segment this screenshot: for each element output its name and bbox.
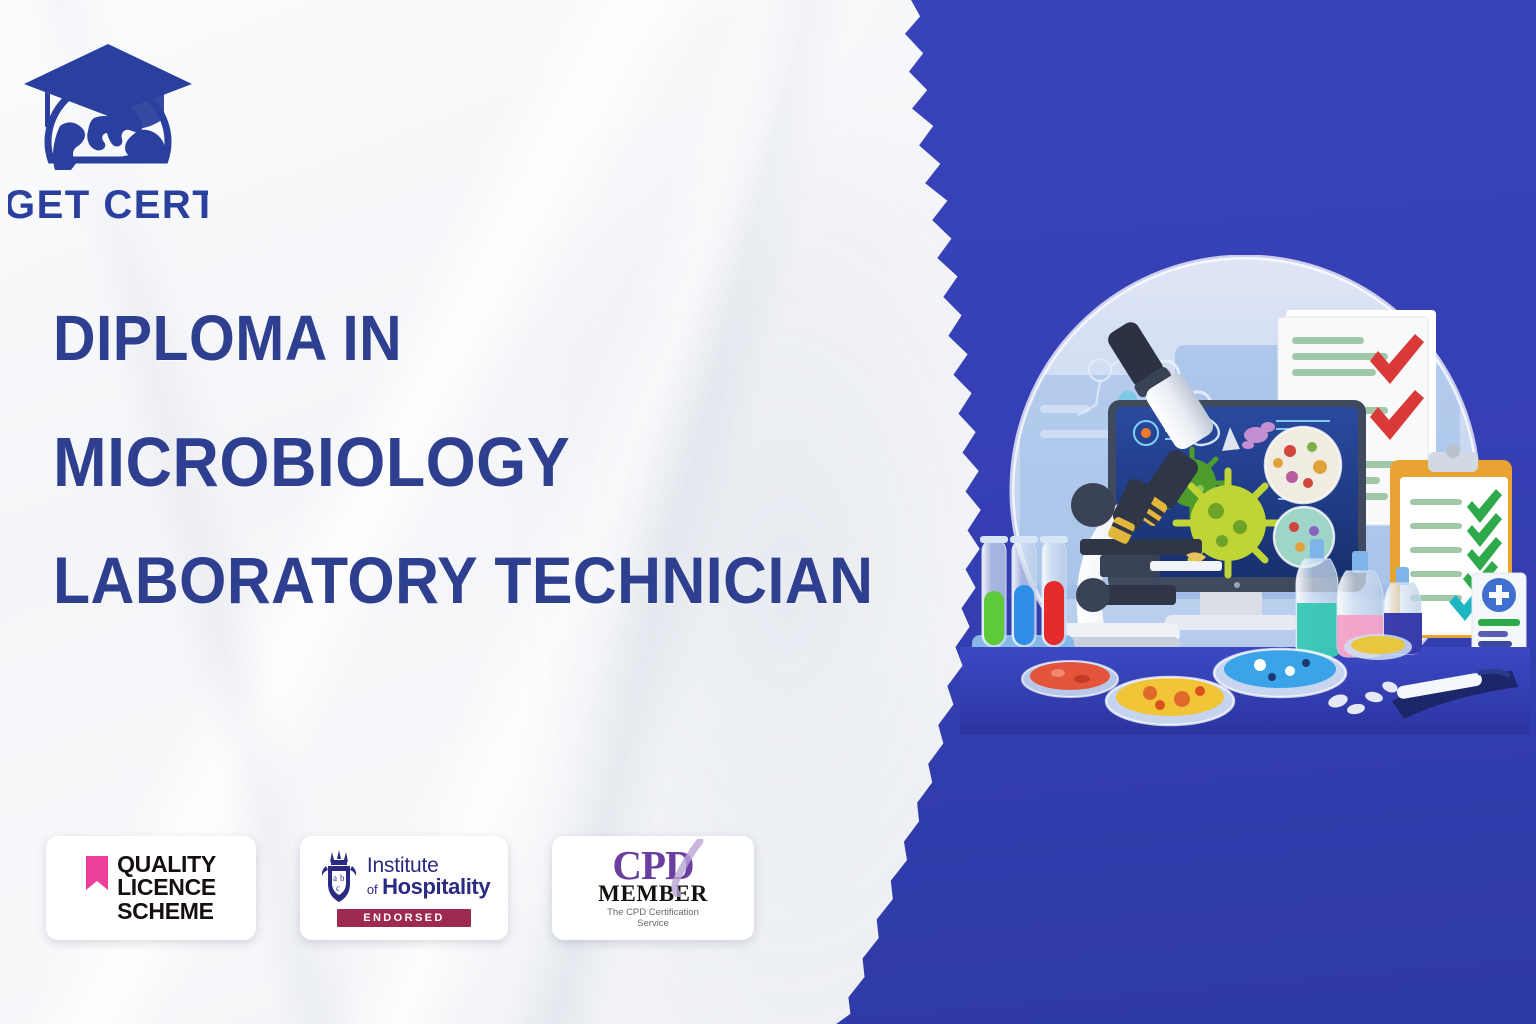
petri-dish-blue	[1214, 649, 1346, 697]
heraldic-crest-icon: abc	[318, 850, 360, 904]
test-tube-red	[1040, 536, 1068, 647]
qls-line-1: QUALITY	[117, 853, 216, 876]
ioh-endorsed-ribbon: ENDORSED	[337, 909, 471, 927]
cpd-subline-1: The CPD Certification	[607, 908, 699, 919]
logo-wordmark: GET CERTIFY	[8, 183, 208, 227]
petri-dish-yellow	[1106, 677, 1234, 725]
ioh-word-of: of	[367, 882, 378, 897]
test-tube-green	[980, 536, 1008, 647]
ioh-word-institute: Institute	[367, 855, 490, 876]
qls-line-3: SCHEME	[117, 900, 216, 923]
microbiology-laboratory-illustration	[960, 255, 1530, 735]
qls-line-2: LICENCE	[117, 876, 216, 899]
title-line-3: LABORATORY TECHNICIAN	[53, 546, 817, 615]
cpd-acronym: CPD	[612, 842, 693, 888]
svg-text:c: c	[336, 883, 340, 893]
pink-bookmark-icon	[86, 856, 108, 890]
accreditation-badges: QUALITY LICENCE SCHEME	[46, 836, 754, 940]
test-tube-blue	[1010, 536, 1038, 647]
petri-dish-small-back	[1344, 634, 1412, 660]
medical-test-kit	[1472, 573, 1526, 657]
petri-dish-red	[1022, 661, 1118, 697]
badge-quality-licence-scheme[interactable]: QUALITY LICENCE SCHEME	[46, 836, 256, 940]
screen-petri-circle-bottom	[1274, 507, 1334, 567]
svg-text:b: b	[340, 873, 345, 883]
banner-root: GET CERTIFY DIPLOMA IN MICROBIOLOGY LABO…	[0, 0, 1536, 1024]
badge-institute-of-hospitality[interactable]: abc Institute of Hospitality ENDORSED	[300, 836, 508, 940]
page-title: DIPLOMA IN MICROBIOLOGY LABORATORY TECHN…	[53, 305, 883, 615]
cpd-subline-2: Service	[607, 919, 699, 930]
title-line-2: MICROBIOLOGY	[53, 426, 817, 500]
ioh-word-hospitality: Hospitality	[382, 874, 490, 899]
get-certify-logo[interactable]: GET CERTIFY	[8, 30, 208, 230]
badge-cpd-member[interactable]: CPD MEMBER The CPD Certification Service	[552, 836, 754, 940]
title-line-1: DIPLOMA IN	[53, 305, 817, 372]
svg-text:a: a	[333, 873, 337, 883]
screen-petri-circle-top	[1265, 427, 1341, 503]
